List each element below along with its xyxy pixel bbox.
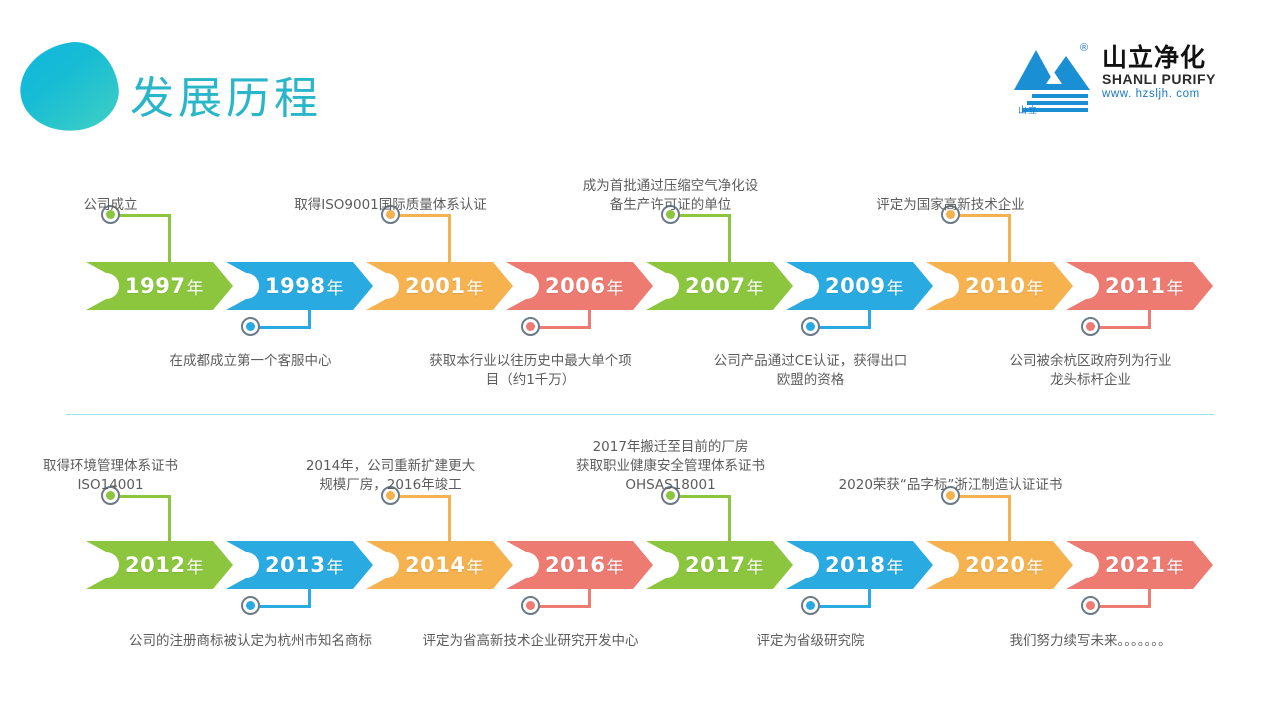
timeline-row-1: 1997年1998年2001年2006年2007年2009年2010年2011年 xyxy=(0,262,1280,310)
milestone-caption-2016: 评定为省高新技术企业研究开发中心 xyxy=(381,632,681,651)
milestone-year-label: 2016年 xyxy=(506,541,653,589)
connector-line-vertical xyxy=(168,215,171,270)
milestone-year-label: 2014年 xyxy=(366,541,513,589)
timeline-milestone-2001[interactable]: 2001年 xyxy=(366,262,513,310)
company-logo: 山立 ® 山立净化 SHANLI PURIFY www. hzsljh. com xyxy=(1010,44,1222,122)
timeline-milestone-2011[interactable]: 2011年 xyxy=(1066,262,1213,310)
timeline-milestone-2021[interactable]: 2021年 xyxy=(1066,541,1213,589)
connector-line-vertical xyxy=(1148,290,1151,327)
connector-line-vertical xyxy=(588,569,591,606)
connector-line-vertical xyxy=(728,215,731,270)
connector-line-horizontal xyxy=(1091,326,1151,329)
milestone-year-label: 2001年 xyxy=(366,262,513,310)
milestone-caption-2007: 成为首批通过压缩空气净化设 备生产许可证的单位 xyxy=(521,177,821,215)
milestone-caption-2017: 2017年搬迁至目前的厂房 获取职业健康安全管理体系证书 OHSAS18001 xyxy=(521,438,821,495)
milestone-year-label: 1998年 xyxy=(226,262,373,310)
connector-line-horizontal xyxy=(811,326,871,329)
connector-line-horizontal xyxy=(1091,605,1151,608)
connector-line-horizontal xyxy=(251,326,311,329)
connector-line-horizontal xyxy=(251,605,311,608)
logo-name-cn: 山立净化 xyxy=(1102,44,1224,71)
timeline-marker-2011[interactable] xyxy=(1081,317,1100,336)
timeline-milestone-2020[interactable]: 2020年 xyxy=(926,541,1073,589)
connector-line-vertical xyxy=(1148,569,1151,606)
connector-line-vertical xyxy=(448,215,451,270)
timeline-milestone-2009[interactable]: 2009年 xyxy=(786,262,933,310)
decorative-blob xyxy=(14,37,123,138)
milestone-caption-1997: 公司成立 xyxy=(0,196,261,215)
milestone-year-label: 2011年 xyxy=(1066,262,1213,310)
connector-line-vertical xyxy=(868,569,871,606)
milestone-caption-2021: 我们努力续写未来。。。。。。。 xyxy=(941,632,1241,651)
milestone-year-label: 2009年 xyxy=(786,262,933,310)
connector-line-vertical xyxy=(588,290,591,327)
connector-line-vertical xyxy=(1008,496,1011,549)
milestone-year-label: 2010年 xyxy=(926,262,1073,310)
milestone-caption-2009: 公司产品通过CE认证，获得出口 欧盟的资格 xyxy=(661,352,961,390)
milestone-caption-2018: 评定为省级研究院 xyxy=(661,632,961,651)
timeline-marker-2013[interactable] xyxy=(241,596,260,615)
timeline-milestone-2013[interactable]: 2013年 xyxy=(226,541,373,589)
milestone-year-label: 2013年 xyxy=(226,541,373,589)
timeline-marker-2016[interactable] xyxy=(521,596,540,615)
milestone-caption-2014: 2014年，公司重新扩建更大 规模厂房，2016年竣工 xyxy=(241,457,541,495)
timeline-marker-2006[interactable] xyxy=(521,317,540,336)
timeline-milestone-2017[interactable]: 2017年 xyxy=(646,541,793,589)
timeline-marker-2009[interactable] xyxy=(801,317,820,336)
milestone-year-label: 2007年 xyxy=(646,262,793,310)
logo-mark-label: 山立 xyxy=(1018,103,1038,116)
timeline-marker-2021[interactable] xyxy=(1081,596,1100,615)
logo-website: www. hzsljh. com xyxy=(1102,87,1224,101)
connector-line-horizontal xyxy=(111,495,171,498)
connector-line-vertical xyxy=(728,496,731,549)
milestone-caption-2006: 获取本行业以往历史中最大单个项 目（约1千万） xyxy=(381,352,681,390)
milestone-caption-2011: 公司被余杭区政府列为行业 龙头标杆企业 xyxy=(941,352,1241,390)
connector-line-horizontal xyxy=(671,495,731,498)
milestone-caption-2013: 公司的注册商标被认定为杭州市知名商标 xyxy=(101,632,401,651)
timeline-milestone-2007[interactable]: 2007年 xyxy=(646,262,793,310)
timeline-row-2: 2012年2013年2014年2016年2017年2018年2020年2021年 xyxy=(0,541,1280,589)
logo-name-en: SHANLI PURIFY xyxy=(1102,71,1224,87)
milestone-year-label: 2020年 xyxy=(926,541,1073,589)
milestone-year-label: 2006年 xyxy=(506,262,653,310)
milestone-caption-2020: 2020荣获“品字标”浙江制造认证证书 xyxy=(801,476,1101,495)
milestone-caption-2010: 评定为国家高新技术企业 xyxy=(801,196,1101,215)
connector-line-vertical xyxy=(168,496,171,549)
milestone-caption-2001: 取得ISO9001国际质量体系认证 xyxy=(241,196,541,215)
section-divider xyxy=(66,414,1214,415)
timeline-milestone-2006[interactable]: 2006年 xyxy=(506,262,653,310)
timeline-milestone-2018[interactable]: 2018年 xyxy=(786,541,933,589)
timeline-marker-2018[interactable] xyxy=(801,596,820,615)
timeline-milestone-2014[interactable]: 2014年 xyxy=(366,541,513,589)
timeline-milestone-1997[interactable]: 1997年 xyxy=(86,262,233,310)
registered-icon: ® xyxy=(1080,42,1088,54)
slide-canvas: 发展历程 山立 ® 山立净化 SHANLI PURIFY www. hzsljh… xyxy=(0,0,1280,720)
connector-line-horizontal xyxy=(811,605,871,608)
connector-line-horizontal xyxy=(531,326,591,329)
timeline-marker-1998[interactable] xyxy=(241,317,260,336)
connector-line-vertical xyxy=(308,569,311,606)
timeline-milestone-2012[interactable]: 2012年 xyxy=(86,541,233,589)
connector-line-horizontal xyxy=(531,605,591,608)
page-title: 发展历程 xyxy=(130,62,322,126)
connector-line-vertical xyxy=(308,290,311,327)
milestone-year-label: 2012年 xyxy=(86,541,233,589)
connector-line-vertical xyxy=(448,496,451,549)
milestone-caption-2012: 取得环境管理体系证书 ISO14001 xyxy=(0,457,261,495)
milestone-year-label: 2021年 xyxy=(1066,541,1213,589)
milestone-year-label: 1997年 xyxy=(86,262,233,310)
timeline-milestone-2010[interactable]: 2010年 xyxy=(926,262,1073,310)
timeline-milestone-2016[interactable]: 2016年 xyxy=(506,541,653,589)
connector-line-vertical xyxy=(868,290,871,327)
connector-line-vertical xyxy=(1008,215,1011,270)
milestone-year-label: 2018年 xyxy=(786,541,933,589)
milestone-caption-1998: 在成都成立第一个客服中心 xyxy=(101,352,401,371)
timeline-milestone-1998[interactable]: 1998年 xyxy=(226,262,373,310)
milestone-year-label: 2017年 xyxy=(646,541,793,589)
connector-line-horizontal xyxy=(951,495,1011,498)
connector-line-horizontal xyxy=(391,495,451,498)
